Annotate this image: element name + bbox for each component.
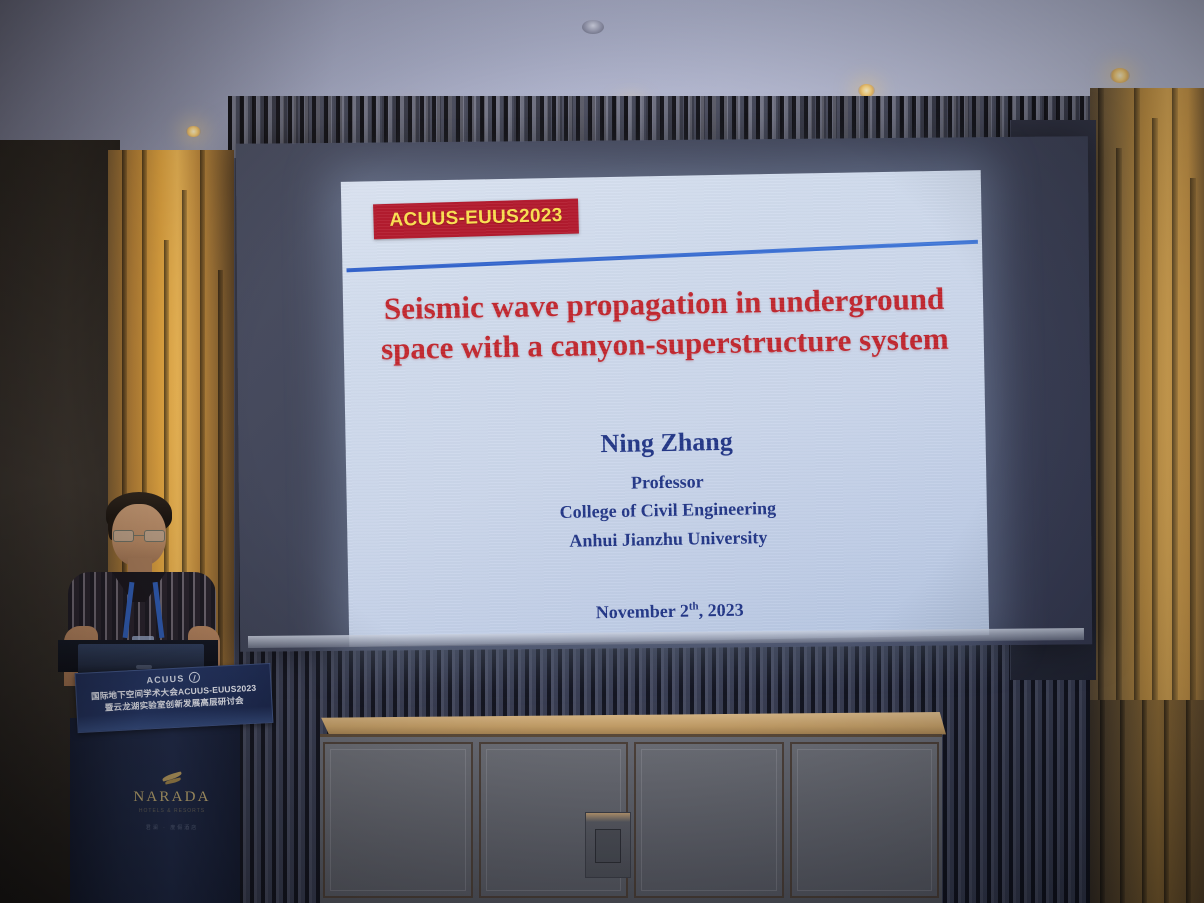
- cabinet-door[interactable]: [790, 742, 940, 898]
- date-year: , 2023: [698, 600, 743, 621]
- right-lower-wood-panel: [1090, 700, 1204, 903]
- narada-chinese-name: 君澜 · 度假酒店: [112, 824, 232, 831]
- podium-conference-sign: ACUUS 国际地下空间学术大会ACUUS-EUUS2023 暨云龙湖实验室创新…: [75, 663, 274, 733]
- slide-affiliation-block: Professor College of Civil Engineering A…: [372, 463, 963, 559]
- date-ordinal-suffix: th: [689, 600, 699, 612]
- slide-conference-banner: ACUUS-EUUS2023: [373, 198, 579, 239]
- projected-slide: ACUUS-EUUS2023 Seismic wave propagation …: [341, 170, 989, 647]
- cabinet-door[interactable]: [634, 742, 784, 898]
- narada-tagline: HOTELS & RESORTS: [112, 808, 232, 814]
- ceiling-downlight: [186, 126, 201, 137]
- smoke-detector-icon: [582, 20, 604, 34]
- narada-bird-icon: [159, 772, 185, 786]
- slide-title: Seismic wave propagation in underground …: [369, 279, 960, 369]
- eyeglasses-icon: [113, 530, 165, 542]
- slide-header-rule: [346, 240, 978, 273]
- date-main: November 2: [596, 601, 690, 623]
- ceiling-downlight: [1110, 68, 1130, 83]
- slide-date: November 2th, 2023: [375, 596, 965, 628]
- storage-cabinet: [320, 734, 942, 903]
- acuus-logo-text: ACUUS: [146, 673, 184, 685]
- right-backlit-wood-panel: [1090, 88, 1204, 728]
- narada-hotel-branding: NARADA HOTELS & RESORTS 君澜 · 度假酒店: [112, 772, 232, 831]
- conference-room-photo: ACUUS-EUUS2023 Seismic wave propagation …: [0, 0, 1204, 903]
- cabinet-handle[interactable]: [585, 812, 631, 878]
- acuus-logo-mark-icon: [188, 672, 200, 684]
- slide-author-name: Ning Zhang: [371, 423, 961, 464]
- narada-wordmark: NARADA: [112, 789, 232, 806]
- cabinet-door[interactable]: [323, 742, 473, 898]
